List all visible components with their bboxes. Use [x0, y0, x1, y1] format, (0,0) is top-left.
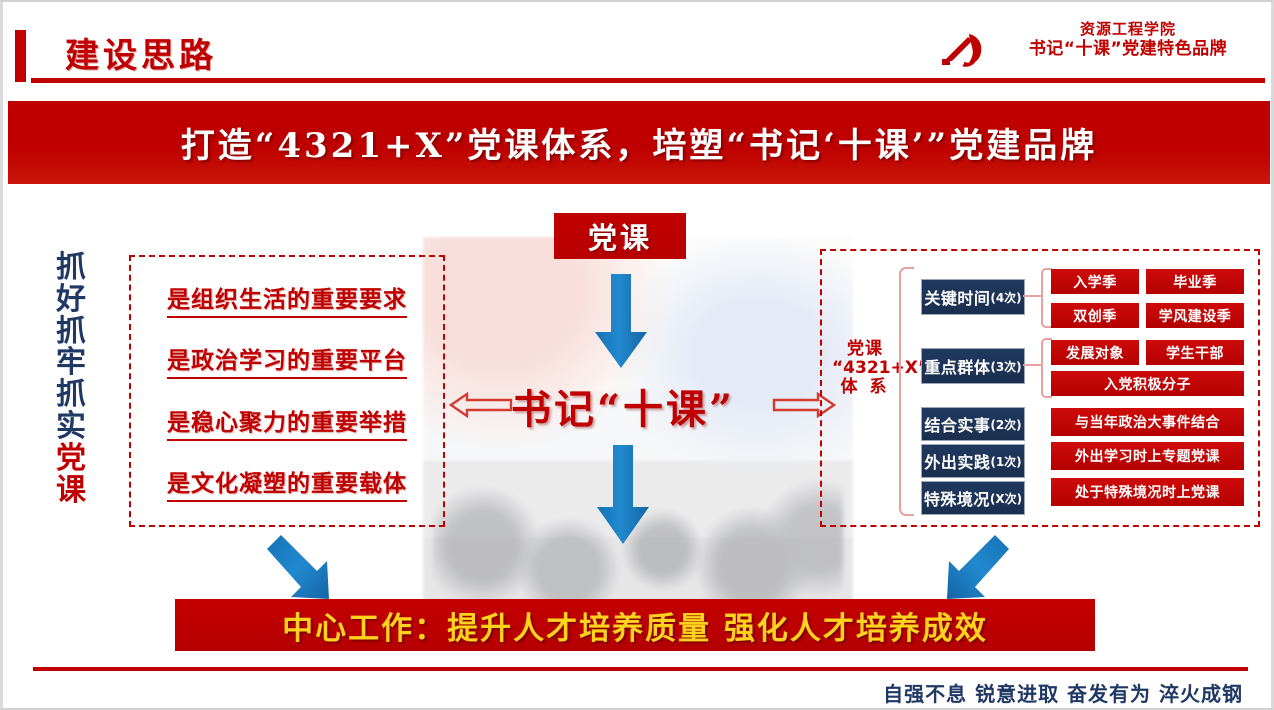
item-box-field-study-lecture[interactable]: 外出学习时上专题党课	[1051, 442, 1244, 470]
left-point-4: 是文化凝塑的重要载体	[167, 464, 407, 502]
category-box-field-practice[interactable]: 外出实践(1次)	[921, 444, 1025, 478]
item-box-political-events[interactable]: 与当年政治大事件结合	[1051, 408, 1244, 436]
down-arrow-icon	[593, 274, 649, 374]
connector-tick	[1023, 295, 1041, 297]
org-line-1: 资源工程学院	[993, 20, 1263, 39]
banner-title: 打造“4321+X”党课体系，培塑“书记‘十课’”党建品牌	[181, 118, 1097, 167]
system-label-line-3: 体 系	[832, 378, 898, 397]
party-emblem-icon	[938, 28, 986, 74]
down-arrow-icon	[595, 445, 651, 550]
category-label: 结合实事	[924, 412, 990, 436]
left-point-1: 是组织生活的重要要求	[167, 280, 407, 318]
down-left-arrow-icon	[939, 535, 1011, 606]
slide-canvas: 建设思路 资源工程学院 书记“十课”党建特色品牌 打造“4321+X”党课体系，…	[0, 0, 1274, 710]
system-label-line-2: “4321+X”	[832, 359, 898, 378]
system-brace	[899, 267, 914, 516]
category-count: (X次)	[990, 490, 1022, 507]
item-box-special-situation-lecture[interactable]: 处于特殊境况时上党课	[1051, 478, 1244, 506]
footer-motto: 自强不息 锐意进取 奋发有为 淬火成钢	[883, 678, 1243, 707]
down-right-arrow-icon	[265, 535, 337, 606]
left-point-2: 是政治学习的重要平台	[167, 341, 407, 379]
header-divider-rule	[31, 78, 1265, 83]
item-box-student-cadres[interactable]: 学生干部	[1146, 340, 1244, 365]
category-label: 重点群体	[924, 354, 990, 378]
item-box-innovation-season[interactable]: 双创季	[1051, 303, 1139, 328]
organization-title: 资源工程学院 书记“十课”党建特色品牌	[993, 20, 1263, 60]
item-box-development-targets[interactable]: 发展对象	[1051, 340, 1139, 365]
category-count: (1次)	[990, 453, 1021, 470]
vertical-red-chars: 党课	[47, 443, 95, 507]
category-count: (2次)	[990, 416, 1021, 433]
item-box-party-activists[interactable]: 入党积极分子	[1051, 371, 1244, 396]
category-box-current-affairs[interactable]: 结合实事(2次)	[921, 407, 1025, 441]
category-label: 外出实践	[924, 449, 990, 473]
bottom-highlight-bar: 中心工作：提升人才培养质量 强化人才培养成效	[175, 599, 1095, 651]
category-box-key-groups[interactable]: 重点群体(3次)	[921, 348, 1025, 384]
center-top-box-label: 党课	[588, 215, 652, 257]
system-label-line-1: 党课	[832, 340, 898, 359]
center-slogan: 书记“十课”	[473, 377, 773, 435]
header-accent-bar	[15, 30, 26, 82]
category-label: 特殊境况	[924, 486, 990, 510]
category-box-special-situations[interactable]: 特殊境况(X次)	[921, 481, 1025, 515]
category-count: (3次)	[990, 358, 1021, 375]
connector-tick	[1023, 364, 1041, 366]
category-label: 关键时间	[924, 285, 990, 309]
page-title: 建设思路	[65, 28, 217, 77]
system-label: 党课 “4321+X” 体 系	[832, 340, 898, 397]
main-banner: 打造“4321+X”党课体系，培塑“书记‘十课’”党建品牌	[8, 101, 1270, 184]
item-box-study-style-season[interactable]: 学风建设季	[1146, 303, 1244, 328]
left-arrow-icon	[449, 392, 513, 423]
center-top-box: 党课	[554, 213, 686, 259]
footer-divider-rule	[33, 667, 1248, 671]
org-line-2: 书记“十课”党建特色品牌	[993, 39, 1263, 60]
category-count: (4次)	[990, 289, 1021, 306]
left-points-panel: 是组织生活的重要要求 是政治学习的重要平台 是稳心聚力的重要举措 是文化凝塑的重…	[129, 255, 445, 527]
bottom-bar-text: 中心工作：提升人才培养质量 强化人才培养成效	[282, 603, 988, 648]
category-box-key-time[interactable]: 关键时间(4次)	[921, 279, 1025, 315]
item-box-graduation-season[interactable]: 毕业季	[1146, 269, 1244, 294]
vertical-dark-chars: 抓好抓牢抓实	[47, 252, 95, 443]
left-vertical-caption: 抓好抓牢抓实 党课	[47, 252, 95, 506]
item-box-enrollment-season[interactable]: 入学季	[1051, 269, 1139, 294]
left-point-3: 是稳心聚力的重要举措	[167, 403, 407, 441]
